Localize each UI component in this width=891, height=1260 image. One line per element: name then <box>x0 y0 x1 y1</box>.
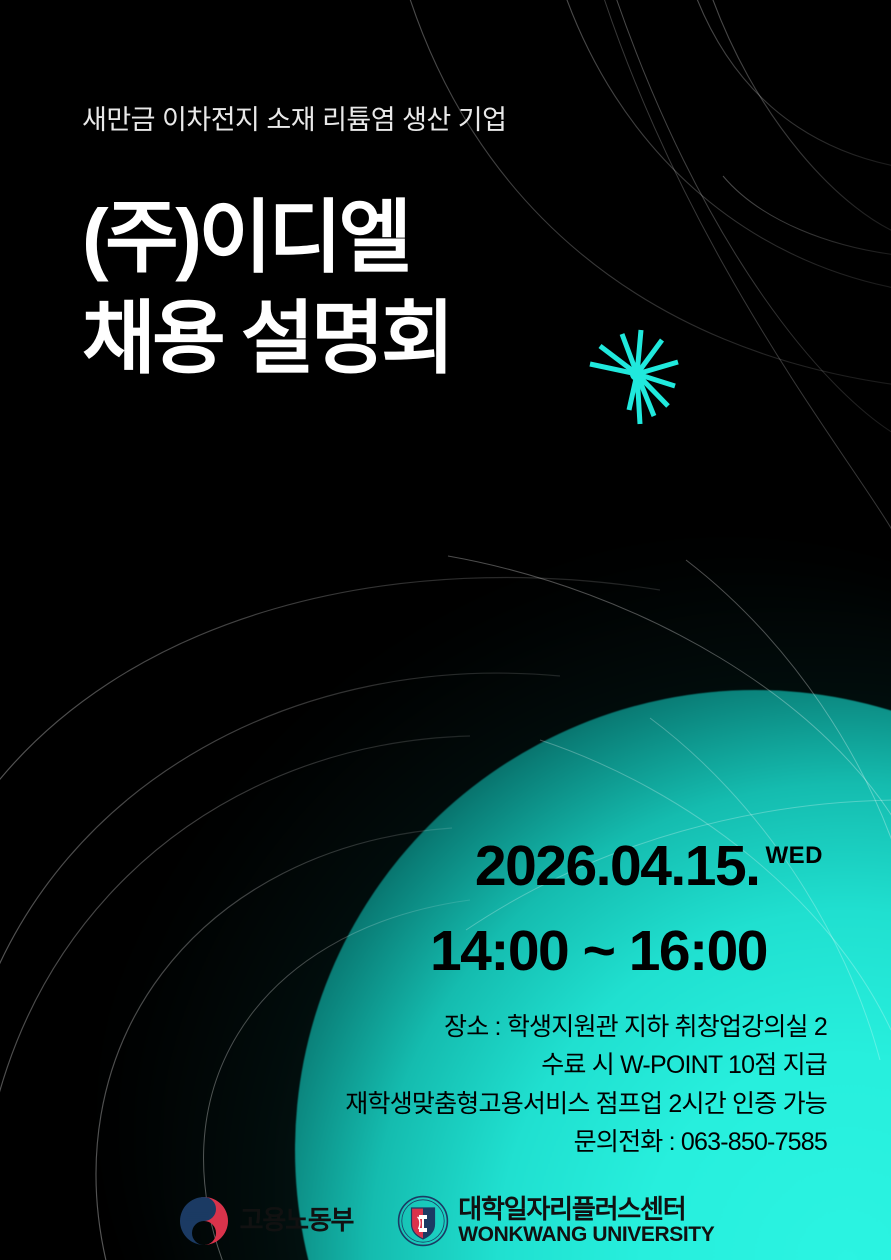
company-tagline: 새만금 이차전지 소재 리튬염 생산 기업 <box>82 104 782 136</box>
logo-ministry-name-ko: 고용노동부 <box>240 1207 354 1234</box>
wonkwang-university-seal-icon <box>397 1195 449 1247</box>
sparkle-starburst-icon <box>572 312 702 442</box>
logo-ministry-text: 고용노동부 <box>240 1207 354 1234</box>
logo-row: 고용노동부 대학일자리플러스센터 WONKWANG UNIVERSITY <box>0 1194 891 1248</box>
detail-location: 장소 : 학생지원관 지하 취창업강의실 2 <box>345 1008 827 1046</box>
event-date: 2026.04.15.WED <box>430 838 823 895</box>
event-weekday: WED <box>766 842 824 869</box>
detail-certification: 재학생맞춤형고용서비스 점프업 2시간 인증 가능 <box>345 1085 827 1123</box>
title-line-company: (주)이디엘 <box>82 188 782 289</box>
logo-university-name-en: WONKWANG UNIVERSITY <box>458 1224 714 1246</box>
poster-canvas: 새만금 이차전지 소재 리튬염 생산 기업 (주)이디엘 채용 설명회 2026… <box>0 0 891 1260</box>
logo-wonkwang-university-job-plus-center: 대학일자리플러스센터 WONKWANG UNIVERSITY <box>397 1195 714 1247</box>
korea-government-taegeuk-icon <box>177 1194 231 1248</box>
logo-ministry-of-employment-and-labor: 고용노동부 <box>177 1194 354 1248</box>
event-date-value: 2026.04.15. <box>475 834 760 898</box>
detail-reward: 수료 시 W-POINT 10점 지급 <box>345 1046 827 1084</box>
details-block: 장소 : 학생지원관 지하 취창업강의실 2 수료 시 W-POINT 10점 … <box>345 1008 827 1161</box>
logo-center-name-ko: 대학일자리플러스센터 <box>458 1196 714 1223</box>
detail-phone: 문의전화 : 063-850-7585 <box>345 1123 827 1161</box>
logo-wonkwang-text: 대학일자리플러스센터 WONKWANG UNIVERSITY <box>458 1196 714 1245</box>
schedule-block: 2026.04.15.WED 14:00 ~ 16:00 <box>430 838 823 980</box>
event-time: 14:00 ~ 16:00 <box>430 923 823 980</box>
